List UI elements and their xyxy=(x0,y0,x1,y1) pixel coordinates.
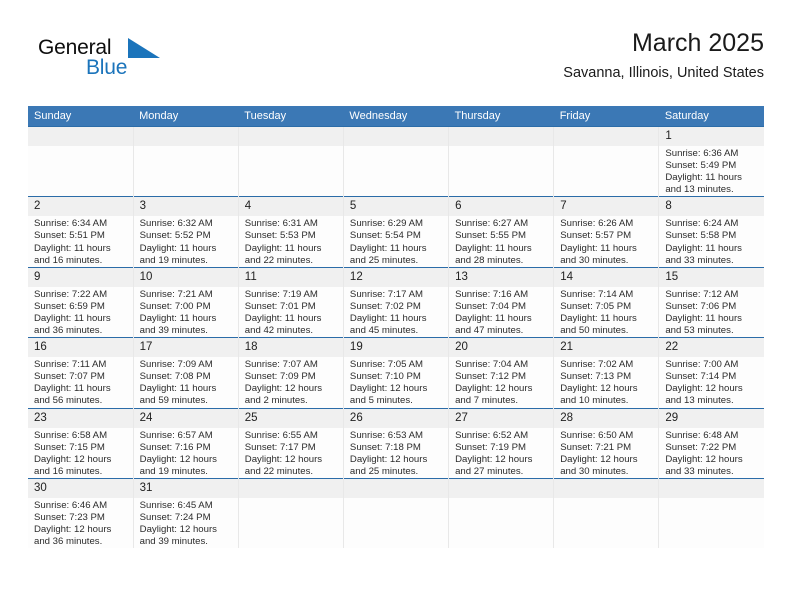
day-number xyxy=(554,127,658,146)
day-sun-info: Sunrise: 7:19 AMSunset: 7:01 PMDaylight:… xyxy=(239,287,343,337)
day-number: 9 xyxy=(28,268,133,287)
day-sun-info: Sunrise: 7:07 AMSunset: 7:09 PMDaylight:… xyxy=(239,357,343,407)
sunrise-time: Sunrise: 6:53 AM xyxy=(350,430,444,442)
sunset-time: Sunset: 7:00 PM xyxy=(140,301,234,313)
sunset-time: Sunset: 7:07 PM xyxy=(34,371,129,383)
title-block: March 2025 Savanna, Illinois, United Sta… xyxy=(563,28,764,82)
day-number: 22 xyxy=(659,338,764,357)
day-number: 16 xyxy=(28,338,133,357)
sunrise-time: Sunrise: 6:24 AM xyxy=(665,218,760,230)
daylight-hours: Daylight: 11 hours xyxy=(140,243,234,255)
daylight-hours: Daylight: 11 hours xyxy=(455,313,549,325)
daylight-hours: Daylight: 12 hours xyxy=(455,454,549,466)
day-number: 31 xyxy=(134,479,238,498)
sunset-time: Sunset: 5:51 PM xyxy=(34,230,129,242)
daylight-minutes: and 33 minutes. xyxy=(665,255,760,267)
day-number: 1 xyxy=(659,127,764,146)
calendar-day-cell[interactable]: 4Sunrise: 6:31 AMSunset: 5:53 PMDaylight… xyxy=(238,197,343,267)
daylight-minutes: and 22 minutes. xyxy=(245,466,339,478)
sunset-time: Sunset: 7:06 PM xyxy=(665,301,760,313)
daylight-hours: Daylight: 12 hours xyxy=(350,454,444,466)
daylight-hours: Daylight: 11 hours xyxy=(350,243,444,255)
daylight-minutes: and 28 minutes. xyxy=(455,255,549,267)
day-sun-info: Sunrise: 7:21 AMSunset: 7:00 PMDaylight:… xyxy=(134,287,238,337)
calendar-week-row: 30Sunrise: 6:46 AMSunset: 7:23 PMDayligh… xyxy=(28,478,764,548)
sunrise-time: Sunrise: 7:11 AM xyxy=(34,359,129,371)
calendar-cell-empty xyxy=(659,478,764,548)
calendar-cell-empty xyxy=(343,127,448,197)
day-sun-info: Sunrise: 7:00 AMSunset: 7:14 PMDaylight:… xyxy=(659,357,764,407)
page-header: General Blue March 2025 Savanna, Illinoi… xyxy=(28,28,764,100)
calendar-day-cell[interactable]: 12Sunrise: 7:17 AMSunset: 7:02 PMDayligh… xyxy=(343,267,448,337)
day-number: 2 xyxy=(28,197,133,216)
sunset-time: Sunset: 5:54 PM xyxy=(350,230,444,242)
calendar-cell-empty xyxy=(554,478,659,548)
calendar-day-cell[interactable]: 9Sunrise: 7:22 AMSunset: 6:59 PMDaylight… xyxy=(28,267,133,337)
day-number: 23 xyxy=(28,409,133,428)
sunrise-time: Sunrise: 6:48 AM xyxy=(665,430,760,442)
sunset-time: Sunset: 7:01 PM xyxy=(245,301,339,313)
day-number: 6 xyxy=(449,197,553,216)
day-sun-info: Sunrise: 7:22 AMSunset: 6:59 PMDaylight:… xyxy=(28,287,133,337)
day-sun-info: Sunrise: 6:57 AMSunset: 7:16 PMDaylight:… xyxy=(134,428,238,478)
day-sun-info: Sunrise: 6:34 AMSunset: 5:51 PMDaylight:… xyxy=(28,216,133,266)
daylight-hours: Daylight: 12 hours xyxy=(455,383,549,395)
day-sun-info: Sunrise: 7:05 AMSunset: 7:10 PMDaylight:… xyxy=(344,357,448,407)
daylight-minutes: and 7 minutes. xyxy=(455,395,549,407)
calendar-week-row: 9Sunrise: 7:22 AMSunset: 6:59 PMDaylight… xyxy=(28,267,764,337)
calendar-body: 1Sunrise: 6:36 AMSunset: 5:49 PMDaylight… xyxy=(28,127,764,549)
day-sun-info: Sunrise: 6:58 AMSunset: 7:15 PMDaylight:… xyxy=(28,428,133,478)
day-number xyxy=(28,127,133,146)
daylight-hours: Daylight: 11 hours xyxy=(560,243,654,255)
sunset-time: Sunset: 5:49 PM xyxy=(665,160,760,172)
daylight-hours: Daylight: 12 hours xyxy=(350,383,444,395)
daylight-hours: Daylight: 12 hours xyxy=(665,454,760,466)
sunrise-time: Sunrise: 7:17 AM xyxy=(350,289,444,301)
sunset-time: Sunset: 5:55 PM xyxy=(455,230,549,242)
day-sun-info: Sunrise: 6:36 AMSunset: 5:49 PMDaylight:… xyxy=(659,146,764,196)
daylight-hours: Daylight: 12 hours xyxy=(34,524,129,536)
day-number: 19 xyxy=(344,338,448,357)
calendar-page: General Blue March 2025 Savanna, Illinoi… xyxy=(0,0,792,612)
day-number: 27 xyxy=(449,409,553,428)
sunset-time: Sunset: 7:14 PM xyxy=(665,371,760,383)
calendar-day-cell[interactable]: 11Sunrise: 7:19 AMSunset: 7:01 PMDayligh… xyxy=(238,267,343,337)
calendar-day-cell[interactable]: 31Sunrise: 6:45 AMSunset: 7:24 PMDayligh… xyxy=(133,478,238,548)
sunrise-time: Sunrise: 6:31 AM xyxy=(245,218,339,230)
sunrise-time: Sunrise: 6:46 AM xyxy=(34,500,129,512)
weekday-header-sunday: Sunday xyxy=(28,106,133,127)
day-sun-info: Sunrise: 6:31 AMSunset: 5:53 PMDaylight:… xyxy=(239,216,343,266)
day-sun-info: Sunrise: 6:52 AMSunset: 7:19 PMDaylight:… xyxy=(449,428,553,478)
sunset-time: Sunset: 7:18 PM xyxy=(350,442,444,454)
calendar-day-cell[interactable]: 10Sunrise: 7:21 AMSunset: 7:00 PMDayligh… xyxy=(133,267,238,337)
day-number: 8 xyxy=(659,197,764,216)
day-number xyxy=(449,479,553,498)
logo-text-blue: Blue xyxy=(86,56,127,80)
sunset-time: Sunset: 5:53 PM xyxy=(245,230,339,242)
sunset-time: Sunset: 5:52 PM xyxy=(140,230,234,242)
day-number xyxy=(659,479,764,498)
sunrise-time: Sunrise: 6:50 AM xyxy=(560,430,654,442)
weekday-header-friday: Friday xyxy=(554,106,659,127)
daylight-minutes: and 19 minutes. xyxy=(140,255,234,267)
sunset-time: Sunset: 7:15 PM xyxy=(34,442,129,454)
daylight-minutes: and 42 minutes. xyxy=(245,325,339,337)
sunset-time: Sunset: 7:10 PM xyxy=(350,371,444,383)
sunset-time: Sunset: 7:23 PM xyxy=(34,512,129,524)
sunrise-time: Sunrise: 7:05 AM xyxy=(350,359,444,371)
daylight-minutes: and 10 minutes. xyxy=(560,395,654,407)
daylight-hours: Daylight: 12 hours xyxy=(140,454,234,466)
calendar-cell-empty xyxy=(554,127,659,197)
daylight-minutes: and 5 minutes. xyxy=(350,395,444,407)
day-number xyxy=(344,479,448,498)
calendar-day-cell[interactable]: 25Sunrise: 6:55 AMSunset: 7:17 PMDayligh… xyxy=(238,408,343,478)
day-sun-info: Sunrise: 7:11 AMSunset: 7:07 PMDaylight:… xyxy=(28,357,133,407)
day-number: 4 xyxy=(239,197,343,216)
calendar-day-cell[interactable]: 13Sunrise: 7:16 AMSunset: 7:04 PMDayligh… xyxy=(449,267,554,337)
day-sun-info: Sunrise: 6:27 AMSunset: 5:55 PMDaylight:… xyxy=(449,216,553,266)
day-number: 30 xyxy=(28,479,133,498)
day-sun-info: Sunrise: 6:32 AMSunset: 5:52 PMDaylight:… xyxy=(134,216,238,266)
daylight-minutes: and 16 minutes. xyxy=(34,255,129,267)
day-sun-info: Sunrise: 7:09 AMSunset: 7:08 PMDaylight:… xyxy=(134,357,238,407)
sunset-time: Sunset: 7:16 PM xyxy=(140,442,234,454)
daylight-hours: Daylight: 11 hours xyxy=(245,313,339,325)
daylight-minutes: and 53 minutes. xyxy=(665,325,760,337)
calendar-day-cell[interactable]: 19Sunrise: 7:05 AMSunset: 7:10 PMDayligh… xyxy=(343,338,448,408)
sunset-time: Sunset: 7:05 PM xyxy=(560,301,654,313)
sunset-time: Sunset: 7:22 PM xyxy=(665,442,760,454)
daylight-hours: Daylight: 11 hours xyxy=(665,313,760,325)
calendar-cell-empty xyxy=(449,127,554,197)
day-number: 13 xyxy=(449,268,553,287)
daylight-hours: Daylight: 11 hours xyxy=(34,243,129,255)
daylight-hours: Daylight: 12 hours xyxy=(560,383,654,395)
page-title: March 2025 xyxy=(563,28,764,58)
day-number: 3 xyxy=(134,197,238,216)
calendar-day-cell[interactable]: 8Sunrise: 6:24 AMSunset: 5:58 PMDaylight… xyxy=(659,197,764,267)
daylight-minutes: and 47 minutes. xyxy=(455,325,549,337)
calendar-day-cell[interactable]: 22Sunrise: 7:00 AMSunset: 7:14 PMDayligh… xyxy=(659,338,764,408)
sunrise-time: Sunrise: 6:27 AM xyxy=(455,218,549,230)
daylight-hours: Daylight: 11 hours xyxy=(34,383,129,395)
calendar-day-cell[interactable]: 18Sunrise: 7:07 AMSunset: 7:09 PMDayligh… xyxy=(238,338,343,408)
day-number: 14 xyxy=(554,268,658,287)
day-sun-info: Sunrise: 7:04 AMSunset: 7:12 PMDaylight:… xyxy=(449,357,553,407)
daylight-hours: Daylight: 11 hours xyxy=(665,172,760,184)
sunset-time: Sunset: 6:59 PM xyxy=(34,301,129,313)
calendar-cell-empty xyxy=(343,478,448,548)
day-sun-info: Sunrise: 6:24 AMSunset: 5:58 PMDaylight:… xyxy=(659,216,764,266)
calendar-day-cell[interactable]: 6Sunrise: 6:27 AMSunset: 5:55 PMDaylight… xyxy=(449,197,554,267)
day-sun-info: Sunrise: 7:12 AMSunset: 7:06 PMDaylight:… xyxy=(659,287,764,337)
day-sun-info: Sunrise: 6:53 AMSunset: 7:18 PMDaylight:… xyxy=(344,428,448,478)
weekday-header-tuesday: Tuesday xyxy=(238,106,343,127)
general-blue-logo[interactable]: General Blue xyxy=(38,36,238,96)
daylight-minutes: and 22 minutes. xyxy=(245,255,339,267)
day-number: 11 xyxy=(239,268,343,287)
calendar-day-cell[interactable]: 16Sunrise: 7:11 AMSunset: 7:07 PMDayligh… xyxy=(28,338,133,408)
daylight-minutes: and 36 minutes. xyxy=(34,325,129,337)
sunset-time: Sunset: 7:08 PM xyxy=(140,371,234,383)
daylight-minutes: and 39 minutes. xyxy=(140,325,234,337)
day-number xyxy=(344,127,448,146)
sunrise-time: Sunrise: 7:14 AM xyxy=(560,289,654,301)
calendar-cell-empty xyxy=(238,478,343,548)
sunset-time: Sunset: 5:57 PM xyxy=(560,230,654,242)
calendar-week-row: 2Sunrise: 6:34 AMSunset: 5:51 PMDaylight… xyxy=(28,197,764,267)
sunset-time: Sunset: 7:04 PM xyxy=(455,301,549,313)
day-number: 15 xyxy=(659,268,764,287)
calendar-week-row: 23Sunrise: 6:58 AMSunset: 7:15 PMDayligh… xyxy=(28,408,764,478)
daylight-minutes: and 13 minutes. xyxy=(665,395,760,407)
day-sun-info: Sunrise: 7:16 AMSunset: 7:04 PMDaylight:… xyxy=(449,287,553,337)
sunrise-time: Sunrise: 7:22 AM xyxy=(34,289,129,301)
sunrise-time: Sunrise: 6:32 AM xyxy=(140,218,234,230)
sunrise-time: Sunrise: 6:26 AM xyxy=(560,218,654,230)
calendar-day-cell[interactable]: 27Sunrise: 6:52 AMSunset: 7:19 PMDayligh… xyxy=(449,408,554,478)
day-number: 7 xyxy=(554,197,658,216)
calendar-cell-empty xyxy=(238,127,343,197)
day-number: 26 xyxy=(344,409,448,428)
sunset-time: Sunset: 7:19 PM xyxy=(455,442,549,454)
sunrise-time: Sunrise: 7:09 AM xyxy=(140,359,234,371)
day-sun-info: Sunrise: 6:55 AMSunset: 7:17 PMDaylight:… xyxy=(239,428,343,478)
daylight-hours: Daylight: 11 hours xyxy=(560,313,654,325)
calendar-week-row: 1Sunrise: 6:36 AMSunset: 5:49 PMDaylight… xyxy=(28,127,764,197)
weekday-header-wednesday: Wednesday xyxy=(343,106,448,127)
day-number xyxy=(239,127,343,146)
daylight-hours: Daylight: 12 hours xyxy=(665,383,760,395)
sunset-time: Sunset: 7:09 PM xyxy=(245,371,339,383)
calendar-day-cell[interactable]: 30Sunrise: 6:46 AMSunset: 7:23 PMDayligh… xyxy=(28,478,133,548)
calendar-day-cell[interactable]: 14Sunrise: 7:14 AMSunset: 7:05 PMDayligh… xyxy=(554,267,659,337)
daylight-minutes: and 39 minutes. xyxy=(140,536,234,548)
daylight-minutes: and 36 minutes. xyxy=(34,536,129,548)
daylight-hours: Daylight: 12 hours xyxy=(34,454,129,466)
sunrise-time: Sunrise: 6:45 AM xyxy=(140,500,234,512)
day-sun-info: Sunrise: 6:29 AMSunset: 5:54 PMDaylight:… xyxy=(344,216,448,266)
daylight-minutes: and 30 minutes. xyxy=(560,466,654,478)
day-sun-info: Sunrise: 6:50 AMSunset: 7:21 PMDaylight:… xyxy=(554,428,658,478)
day-sun-info: Sunrise: 6:26 AMSunset: 5:57 PMDaylight:… xyxy=(554,216,658,266)
daylight-minutes: and 33 minutes. xyxy=(665,466,760,478)
day-sun-info: Sunrise: 7:14 AMSunset: 7:05 PMDaylight:… xyxy=(554,287,658,337)
day-number: 5 xyxy=(344,197,448,216)
sunset-time: Sunset: 7:24 PM xyxy=(140,512,234,524)
daylight-minutes: and 56 minutes. xyxy=(34,395,129,407)
daylight-hours: Daylight: 11 hours xyxy=(140,383,234,395)
day-number: 21 xyxy=(554,338,658,357)
calendar-week-row: 16Sunrise: 7:11 AMSunset: 7:07 PMDayligh… xyxy=(28,338,764,408)
daylight-hours: Daylight: 11 hours xyxy=(245,243,339,255)
sunrise-time: Sunrise: 7:19 AM xyxy=(245,289,339,301)
calendar-cell-empty xyxy=(28,127,133,197)
calendar-day-cell[interactable]: 29Sunrise: 6:48 AMSunset: 7:22 PMDayligh… xyxy=(659,408,764,478)
weekday-header-thursday: Thursday xyxy=(449,106,554,127)
day-number: 17 xyxy=(134,338,238,357)
sunrise-time: Sunrise: 6:29 AM xyxy=(350,218,444,230)
calendar-day-cell[interactable]: 7Sunrise: 6:26 AMSunset: 5:57 PMDaylight… xyxy=(554,197,659,267)
weekday-header-monday: Monday xyxy=(133,106,238,127)
daylight-hours: Daylight: 11 hours xyxy=(34,313,129,325)
calendar-day-cell[interactable]: 2Sunrise: 6:34 AMSunset: 5:51 PMDaylight… xyxy=(28,197,133,267)
calendar-day-cell[interactable]: 20Sunrise: 7:04 AMSunset: 7:12 PMDayligh… xyxy=(449,338,554,408)
daylight-minutes: and 19 minutes. xyxy=(140,466,234,478)
calendar-cell-empty xyxy=(449,478,554,548)
daylight-hours: Daylight: 11 hours xyxy=(455,243,549,255)
sunset-time: Sunset: 7:13 PM xyxy=(560,371,654,383)
sunrise-time: Sunrise: 7:04 AM xyxy=(455,359,549,371)
day-sun-info: Sunrise: 6:48 AMSunset: 7:22 PMDaylight:… xyxy=(659,428,764,478)
calendar-table: Sunday Monday Tuesday Wednesday Thursday… xyxy=(28,106,764,548)
daylight-minutes: and 16 minutes. xyxy=(34,466,129,478)
daylight-hours: Daylight: 12 hours xyxy=(560,454,654,466)
page-subtitle: Savanna, Illinois, United States xyxy=(563,64,764,82)
day-number: 12 xyxy=(344,268,448,287)
weekday-header-saturday: Saturday xyxy=(659,106,764,127)
calendar-day-cell[interactable]: 21Sunrise: 7:02 AMSunset: 7:13 PMDayligh… xyxy=(554,338,659,408)
daylight-minutes: and 13 minutes. xyxy=(665,184,760,196)
calendar-day-cell[interactable]: 15Sunrise: 7:12 AMSunset: 7:06 PMDayligh… xyxy=(659,267,764,337)
daylight-minutes: and 25 minutes. xyxy=(350,466,444,478)
day-number: 24 xyxy=(134,409,238,428)
day-number xyxy=(449,127,553,146)
daylight-hours: Daylight: 12 hours xyxy=(245,383,339,395)
daylight-minutes: and 25 minutes. xyxy=(350,255,444,267)
daylight-minutes: and 30 minutes. xyxy=(560,255,654,267)
day-number xyxy=(554,479,658,498)
calendar-day-cell[interactable]: 17Sunrise: 7:09 AMSunset: 7:08 PMDayligh… xyxy=(133,338,238,408)
daylight-minutes: and 27 minutes. xyxy=(455,466,549,478)
sunrise-time: Sunrise: 7:07 AM xyxy=(245,359,339,371)
daylight-hours: Daylight: 11 hours xyxy=(350,313,444,325)
calendar-day-cell[interactable]: 23Sunrise: 6:58 AMSunset: 7:15 PMDayligh… xyxy=(28,408,133,478)
day-number xyxy=(239,479,343,498)
daylight-minutes: and 2 minutes. xyxy=(245,395,339,407)
daylight-minutes: and 59 minutes. xyxy=(140,395,234,407)
daylight-hours: Daylight: 11 hours xyxy=(665,243,760,255)
daylight-minutes: and 45 minutes. xyxy=(350,325,444,337)
sunrise-time: Sunrise: 7:00 AM xyxy=(665,359,760,371)
sunset-time: Sunset: 7:02 PM xyxy=(350,301,444,313)
day-number: 29 xyxy=(659,409,764,428)
daylight-hours: Daylight: 12 hours xyxy=(140,524,234,536)
sunrise-time: Sunrise: 7:16 AM xyxy=(455,289,549,301)
calendar-day-cell[interactable]: 28Sunrise: 6:50 AMSunset: 7:21 PMDayligh… xyxy=(554,408,659,478)
day-number: 25 xyxy=(239,409,343,428)
sunrise-time: Sunrise: 7:02 AM xyxy=(560,359,654,371)
calendar-day-cell[interactable]: 5Sunrise: 6:29 AMSunset: 5:54 PMDaylight… xyxy=(343,197,448,267)
sunrise-time: Sunrise: 6:52 AM xyxy=(455,430,549,442)
day-number: 20 xyxy=(449,338,553,357)
sunset-time: Sunset: 7:12 PM xyxy=(455,371,549,383)
sunrise-time: Sunrise: 6:58 AM xyxy=(34,430,129,442)
triangle-flag-icon xyxy=(128,38,162,62)
day-sun-info: Sunrise: 7:17 AMSunset: 7:02 PMDaylight:… xyxy=(344,287,448,337)
calendar-cell-empty xyxy=(133,127,238,197)
daylight-hours: Daylight: 11 hours xyxy=(140,313,234,325)
calendar-day-cell[interactable]: 3Sunrise: 6:32 AMSunset: 5:52 PMDaylight… xyxy=(133,197,238,267)
sunrise-time: Sunrise: 6:57 AM xyxy=(140,430,234,442)
day-number: 18 xyxy=(239,338,343,357)
sunset-time: Sunset: 5:58 PM xyxy=(665,230,760,242)
daylight-hours: Daylight: 12 hours xyxy=(245,454,339,466)
day-sun-info: Sunrise: 6:46 AMSunset: 7:23 PMDaylight:… xyxy=(28,498,133,548)
calendar-header-row: Sunday Monday Tuesday Wednesday Thursday… xyxy=(28,106,764,127)
day-number xyxy=(134,127,238,146)
sunrise-time: Sunrise: 6:36 AM xyxy=(665,148,760,160)
sunrise-time: Sunrise: 6:34 AM xyxy=(34,218,129,230)
calendar-day-cell[interactable]: 26Sunrise: 6:53 AMSunset: 7:18 PMDayligh… xyxy=(343,408,448,478)
calendar-day-cell[interactable]: 24Sunrise: 6:57 AMSunset: 7:16 PMDayligh… xyxy=(133,408,238,478)
sunset-time: Sunset: 7:17 PM xyxy=(245,442,339,454)
daylight-minutes: and 50 minutes. xyxy=(560,325,654,337)
day-sun-info: Sunrise: 6:45 AMSunset: 7:24 PMDaylight:… xyxy=(134,498,238,548)
calendar-day-cell[interactable]: 1Sunrise: 6:36 AMSunset: 5:49 PMDaylight… xyxy=(659,127,764,197)
day-sun-info: Sunrise: 7:02 AMSunset: 7:13 PMDaylight:… xyxy=(554,357,658,407)
day-number: 10 xyxy=(134,268,238,287)
day-number: 28 xyxy=(554,409,658,428)
sunset-time: Sunset: 7:21 PM xyxy=(560,442,654,454)
sunrise-time: Sunrise: 7:21 AM xyxy=(140,289,234,301)
sunrise-time: Sunrise: 6:55 AM xyxy=(245,430,339,442)
sunrise-time: Sunrise: 7:12 AM xyxy=(665,289,760,301)
